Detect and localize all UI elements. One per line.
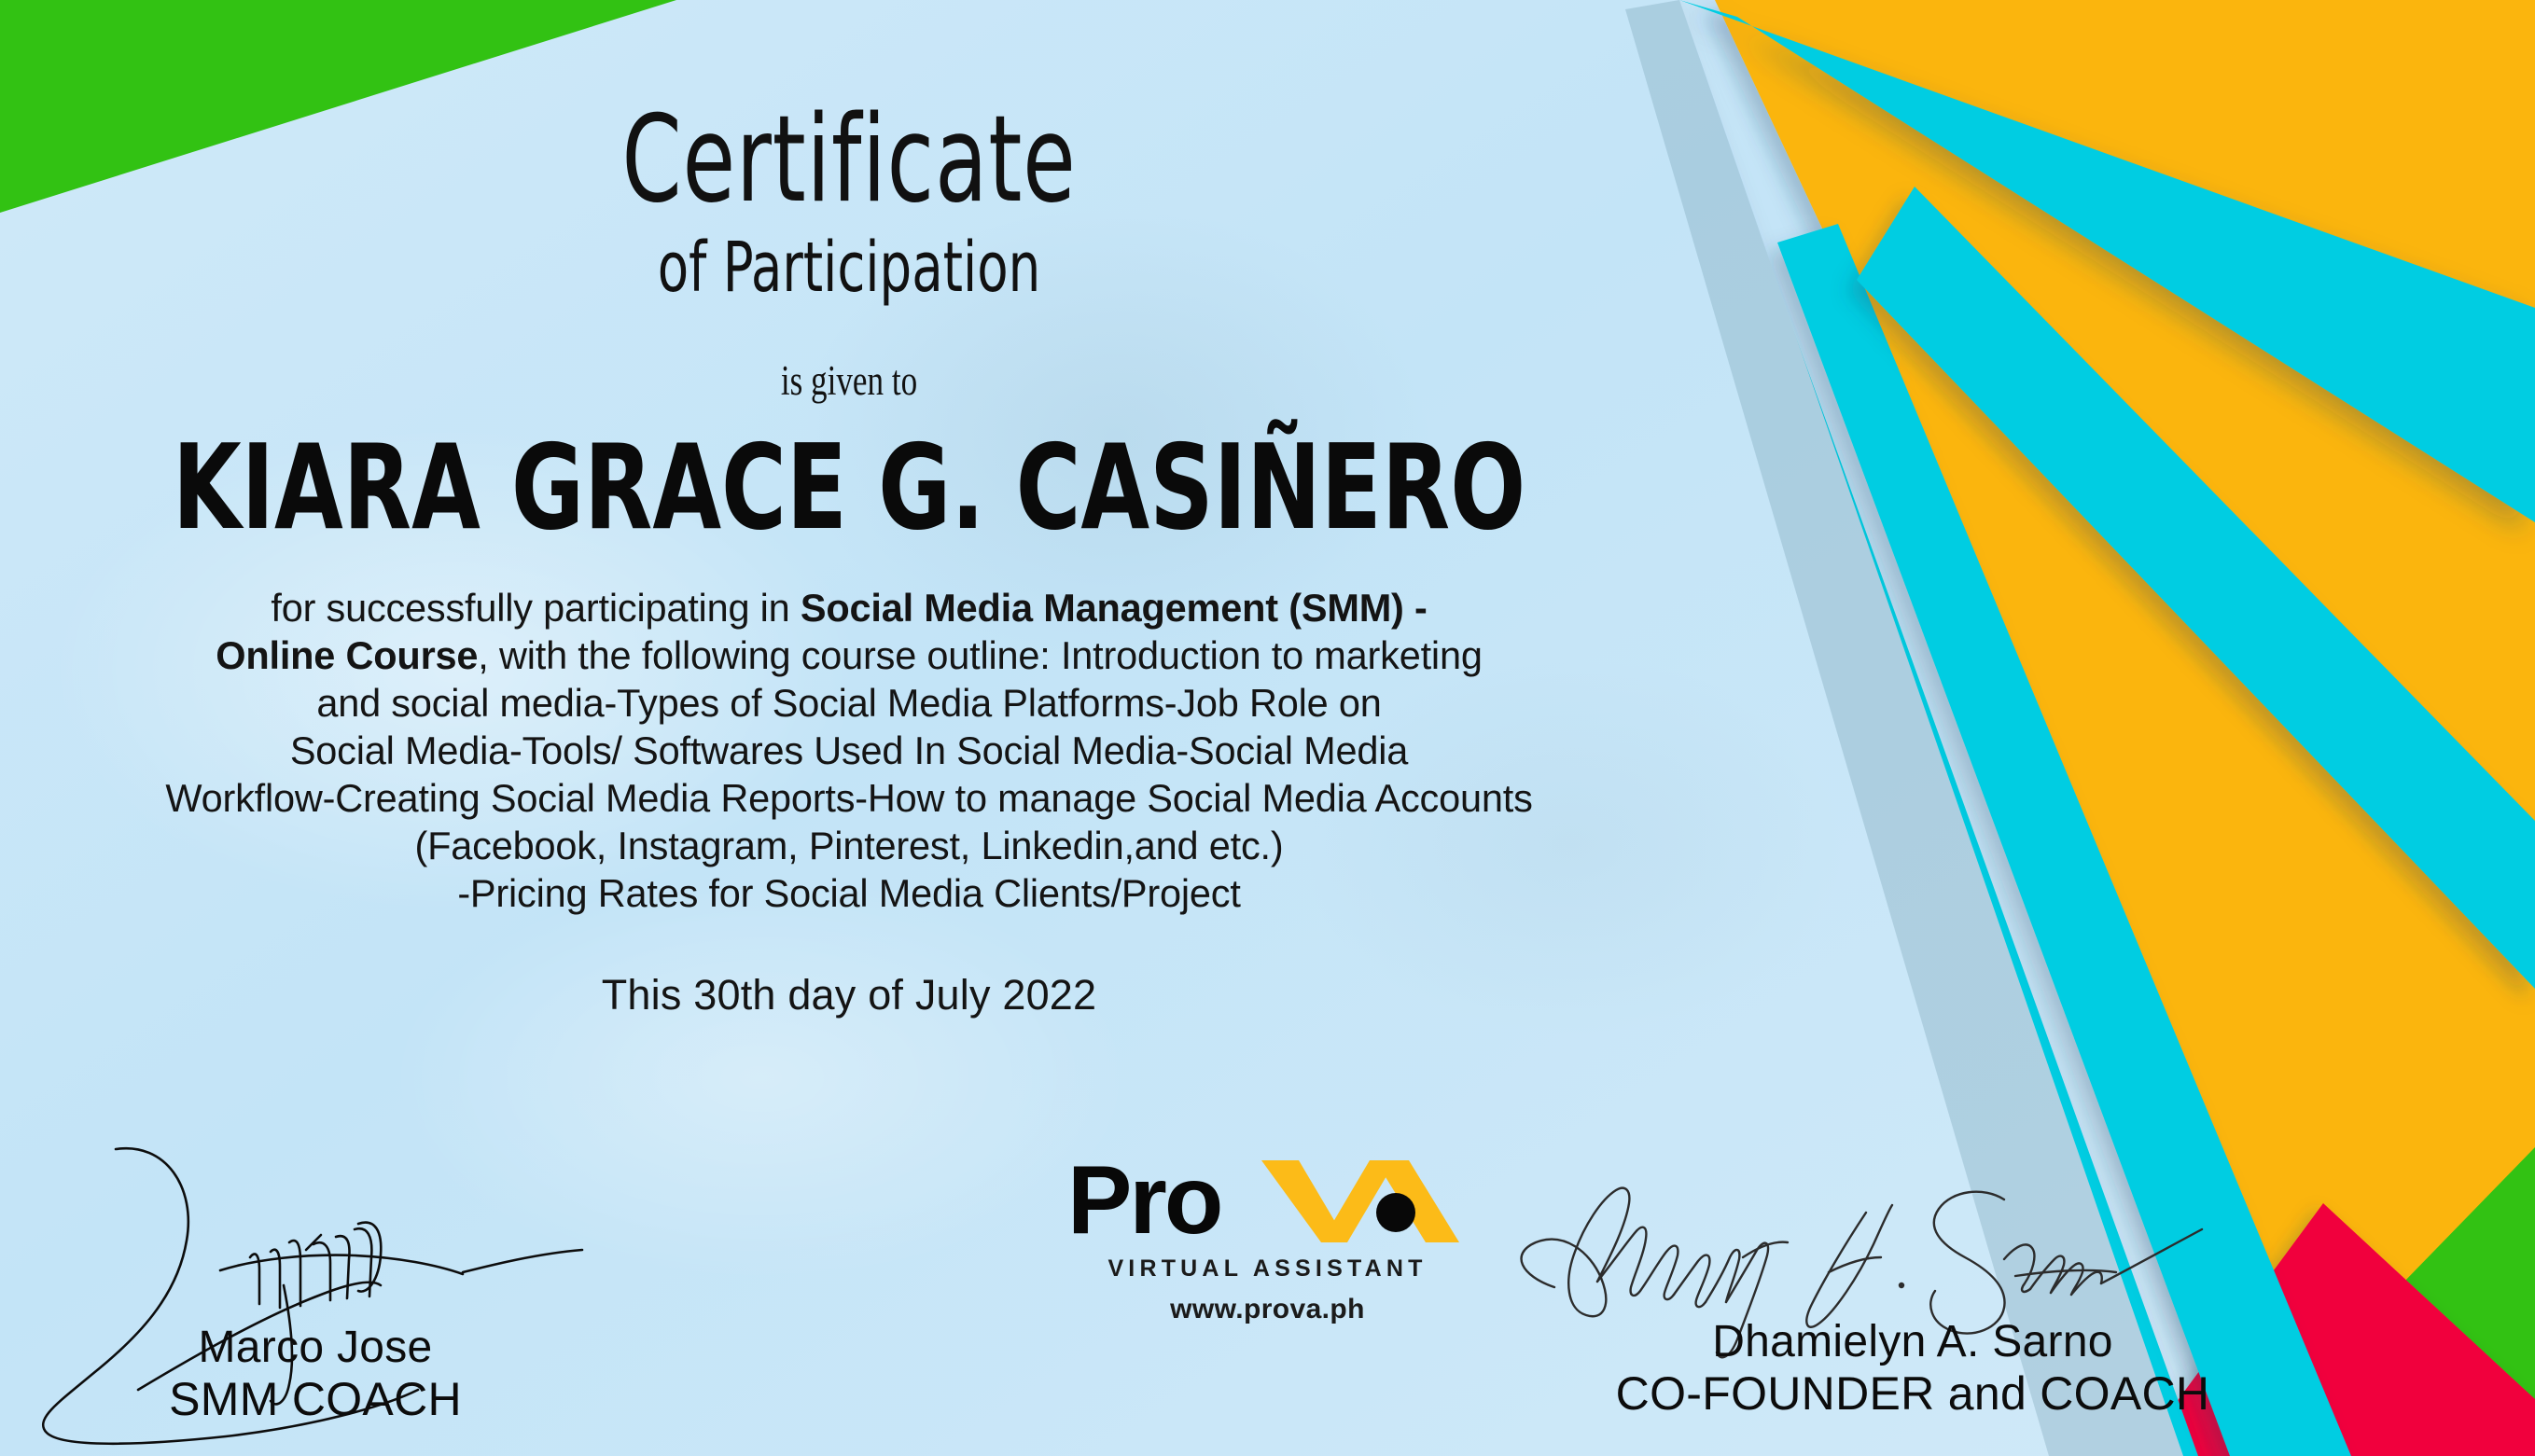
course-text: and social media-Types of Social Media P…	[316, 681, 1381, 725]
signatory-role-left: SMM COACH	[26, 1373, 605, 1425]
course-description-line: -Pricing Rates for Social Media Clients/…	[0, 869, 1698, 917]
certificate-title: Certificate	[170, 101, 1528, 220]
course-description-line: Online Course, with the following course…	[0, 631, 1698, 679]
date-line: This 30th day of July 2022	[0, 971, 1698, 1019]
logo-dot	[1376, 1193, 1415, 1232]
course-text: , with the following course outline: Int…	[478, 633, 1482, 677]
recipient-name: KIARA GRACE G. CASIÑERO	[136, 429, 1563, 547]
given-to-label: is given to	[187, 356, 1511, 405]
course-text: Social Media-Tools/ Softwares Used In So…	[290, 728, 1408, 772]
certificate-subtitle: of Participation	[153, 233, 1545, 302]
certificate-canvas: Certificate of Participation is given to…	[0, 0, 2535, 1456]
course-description-line: (Facebook, Instagram, Pinterest, Linkedi…	[0, 822, 1698, 869]
course-description-line: Social Media-Tools/ Softwares Used In So…	[0, 727, 1698, 774]
course-description-line: for successfully participating in Social…	[0, 584, 1698, 631]
logo-word-pro: Pro	[1067, 1153, 1220, 1250]
course-description-line: and social media-Types of Social Media P…	[0, 679, 1698, 727]
course-text: -Pricing Rates for Social Media Clients/…	[457, 871, 1240, 915]
course-text: Workflow-Creating Social Media Reports-H…	[165, 776, 1532, 820]
course-text: (Facebook, Instagram, Pinterest, Linkedi…	[415, 824, 1284, 867]
signature-block-left: Marco Jose SMM COACH	[26, 1140, 605, 1425]
signature-block-right: Dhamielyn A. Sarno CO-FOUNDER and COACH	[1493, 1166, 2333, 1420]
signatory-name-right: Dhamielyn A. Sarno	[1493, 1317, 2333, 1367]
signatory-name-left: Marco Jose	[26, 1323, 605, 1373]
course-description-line: Workflow-Creating Social Media Reports-H…	[0, 774, 1698, 822]
course-name-emphasis: Online Course	[216, 633, 478, 677]
course-name-emphasis: Social Media Management (SMM) -	[801, 586, 1428, 630]
signatory-role-right: CO-FOUNDER and COACH	[1493, 1367, 2333, 1420]
course-text: for successfully participating in	[271, 586, 801, 630]
prova-logo-mark: Pro	[1067, 1153, 1469, 1250]
course-description: for successfully participating in Social…	[0, 584, 1698, 917]
